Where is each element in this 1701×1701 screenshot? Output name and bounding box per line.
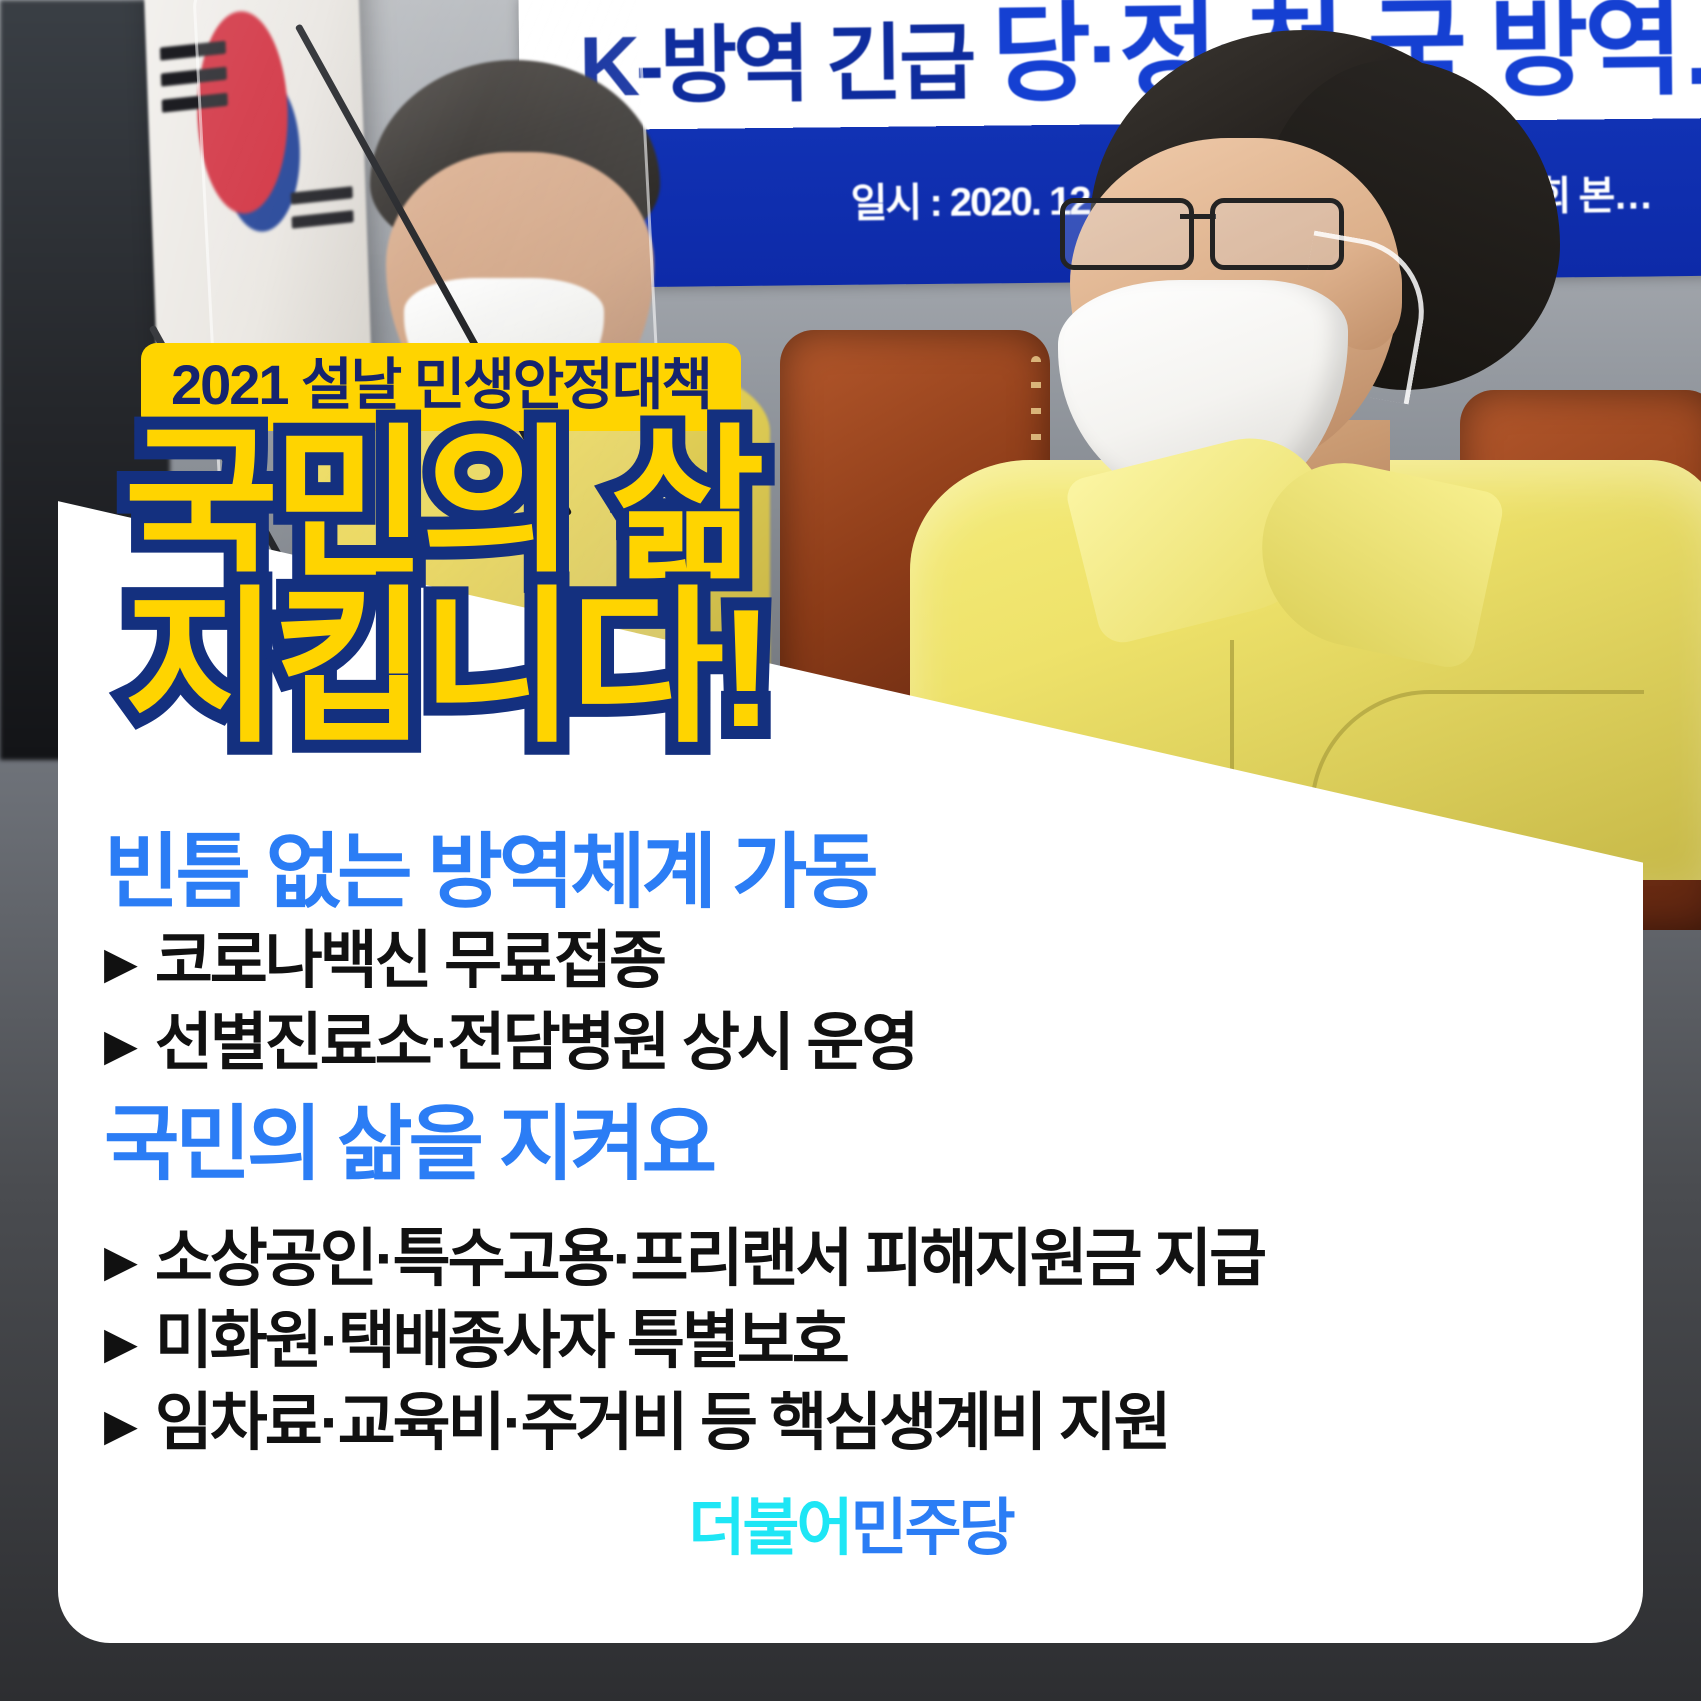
list-item-label: 임차료·교육비·주거비 등 핵심생계비 지원: [155, 1392, 1169, 1455]
list-item: ▶ 미화원·택배종사자 특별보호: [104, 1310, 847, 1373]
section-heading-2: 국민의 삶을 지켜요: [104, 1104, 713, 1186]
party-logo-part-2: 민주당: [851, 1494, 1013, 1563]
list-item-label: 소상공인·특수고용·프리랜서 피해지원금 지급: [155, 1228, 1264, 1291]
list-item-label: 미화원·택배종사자 특별보호: [155, 1310, 847, 1373]
poster-card: K-방역 긴급 당·정·청 국 방역… 일시 : 2020. 12. 15.(화…: [0, 0, 1701, 1701]
triangle-bullet-icon: ▶: [104, 1322, 135, 1366]
list-item: ▶ 임차료·교육비·주거비 등 핵심생계비 지원: [104, 1392, 1169, 1455]
list-item: ▶ 소상공인·특수고용·프리랜서 피해지원금 지급: [104, 1228, 1264, 1291]
triangle-bullet-icon: ▶: [104, 1404, 135, 1448]
list-item-label: 코로나백신 무료접종: [155, 930, 664, 993]
triangle-bullet-icon: ▶: [104, 1024, 135, 1068]
headline-line-2: 지킵니다!: [124, 592, 768, 744]
party-logo: 더불어민주당: [0, 1498, 1701, 1560]
party-logo-part-1: 더불어: [688, 1494, 850, 1563]
triangle-bullet-icon: ▶: [104, 942, 135, 986]
list-item-label: 선별진료소·전담병원 상시 운영: [155, 1012, 916, 1075]
triangle-bullet-icon: ▶: [104, 1240, 135, 1284]
section-heading-1: 빈틈 없는 방역체계 가동: [104, 832, 875, 914]
headline-line-1: 국민의 삶: [124, 430, 759, 582]
list-item: ▶ 선별진료소·전담병원 상시 운영: [104, 1012, 916, 1075]
list-item: ▶ 코로나백신 무료접종: [104, 930, 664, 993]
